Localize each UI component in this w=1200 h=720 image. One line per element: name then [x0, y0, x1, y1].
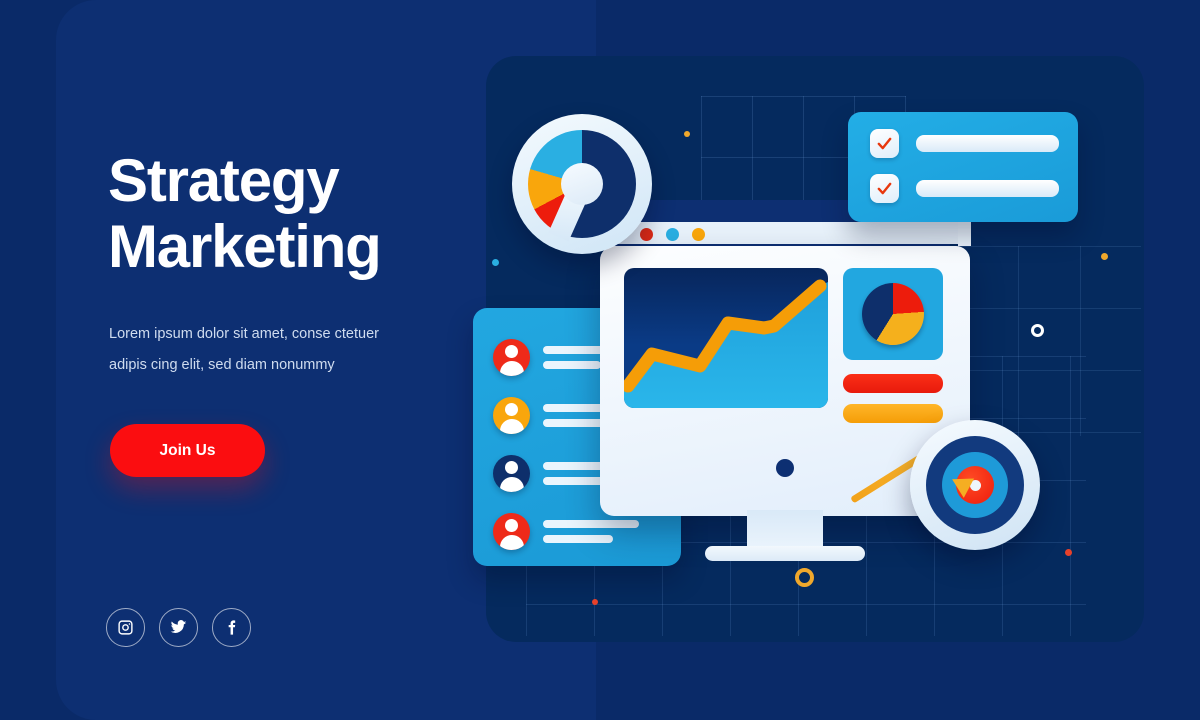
monitor-indicator-dot — [776, 459, 794, 477]
orange-dot-right — [1101, 253, 1108, 260]
avatar — [493, 339, 530, 376]
checklist-text-bar — [916, 180, 1059, 197]
social-links — [106, 608, 251, 647]
orange-ring-bottom — [795, 568, 814, 587]
paragraph-line-2: adipis cing elit, sed diam nonummy — [109, 357, 335, 373]
checklist-card[interactable] — [848, 112, 1078, 222]
avatar — [493, 455, 530, 492]
marketing-illustration — [460, 50, 1100, 670]
avatar — [493, 397, 530, 434]
monitor-stand-base — [705, 546, 865, 561]
hero-content: Strategy Marketing Lorem ipsum dolor sit… — [0, 0, 480, 720]
join-us-button[interactable]: Join Us — [110, 424, 265, 477]
list-item-text — [543, 520, 639, 543]
hero-banner: Strategy Marketing Lorem ipsum dolor sit… — [0, 0, 1200, 720]
window-dots — [640, 228, 705, 241]
checklist-row[interactable] — [870, 174, 1078, 203]
red-dot-right — [1065, 549, 1072, 556]
checkbox-checked[interactable] — [870, 129, 899, 158]
stat-bar-red — [843, 374, 943, 393]
checklist-row[interactable] — [870, 129, 1078, 158]
window-dot-orange — [692, 228, 705, 241]
gauge-ring — [528, 130, 636, 238]
checkbox-checked[interactable] — [870, 174, 899, 203]
headline-line-1: Strategy — [108, 147, 339, 214]
white-ring-right — [1031, 324, 1044, 337]
gauge-chart — [512, 114, 652, 254]
window-dot-red — [640, 228, 653, 241]
gauge-center-hole — [561, 163, 603, 205]
blue-dot-left — [492, 259, 499, 266]
pie-chart — [862, 283, 924, 345]
headline-line-2: Marketing — [108, 214, 468, 280]
pie-chart-card — [843, 268, 943, 360]
instagram-icon[interactable] — [106, 608, 145, 647]
line-chart — [624, 268, 828, 408]
orange-dot-top — [684, 131, 690, 137]
checklist-card-stem — [958, 220, 971, 246]
red-dot-bottom — [592, 599, 598, 605]
checklist-text-bar — [916, 135, 1059, 152]
hero-paragraph: Lorem ipsum dolor sit amet, conse ctetue… — [109, 319, 419, 381]
stat-bar-amber — [843, 404, 943, 423]
window-dot-blue — [666, 228, 679, 241]
twitter-icon[interactable] — [159, 608, 198, 647]
avatar — [493, 513, 530, 550]
paragraph-line-1: Lorem ipsum dolor sit amet, conse ctetue… — [109, 326, 379, 342]
facebook-icon[interactable] — [212, 608, 251, 647]
page-title: Strategy Marketing — [108, 148, 468, 280]
